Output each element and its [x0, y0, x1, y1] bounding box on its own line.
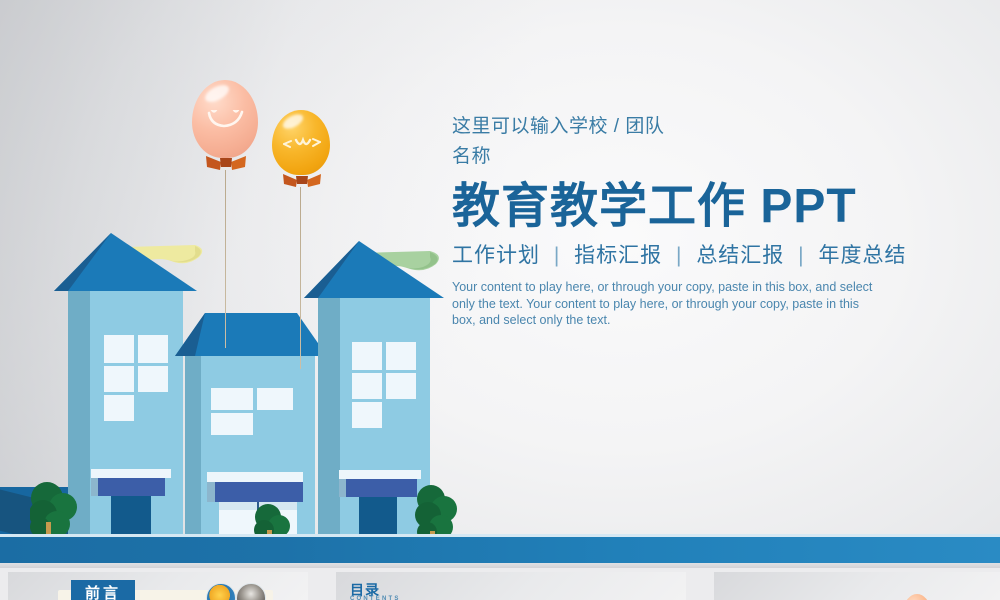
thumb2-contents-subtitle: CONTENTS: [350, 596, 401, 600]
orange-balloon-cat-face-icon: [283, 134, 321, 154]
center-canopy-band: [214, 482, 303, 502]
slide-thumb-cover[interactable]: [714, 572, 1000, 600]
tower-left-window-c: [104, 366, 134, 392]
subtitle-item-0: 工作计划: [452, 244, 540, 267]
center-roof: [175, 313, 327, 357]
center-canopy-shadow: [207, 482, 215, 502]
portrait-photo-circle: [236, 583, 266, 600]
center-window-a: [211, 388, 253, 410]
tower-right-window-d: [386, 373, 416, 399]
subtitle-item-1: 指标汇报: [574, 244, 662, 267]
tower-left-canopy-band: [97, 478, 165, 496]
tower-right-roof: [304, 241, 444, 299]
pink-balloon-smiley-face-icon: [206, 110, 246, 134]
tower-right-canopy-top: [339, 470, 421, 479]
tower-right-window-b: [386, 342, 416, 370]
bottom-blue-ribbon: [0, 537, 1000, 563]
orange-balloon-string: [300, 187, 301, 369]
tower-right-canopy-band: [345, 479, 417, 497]
tower-left-window-d: [138, 366, 168, 392]
cover-text-block: 这里可以输入学校 / 团队名称 教育教学工作 PPT 工作计划 | 指标汇报 |…: [452, 112, 987, 329]
subtitle-separator-2: |: [791, 244, 811, 267]
subtitle-separator-1: |: [669, 244, 689, 267]
flowers-photo-circle: [206, 583, 236, 600]
tower-right-window-e: [352, 402, 382, 428]
subtitle-separator-0: |: [547, 244, 567, 267]
tower-left-canopy-shadow: [91, 478, 98, 496]
pink-balloon-string: [225, 170, 226, 348]
orange-balloon-bow-icon: [283, 172, 321, 189]
subtitle-item-3: 年度总结: [818, 244, 906, 267]
building-tower-left: [68, 291, 183, 568]
tower-left-window-e: [104, 395, 134, 421]
body-placeholder-text[interactable]: Your content to play here, or through yo…: [452, 279, 877, 329]
tower-left-window-a: [104, 335, 134, 363]
school-name-placeholder[interactable]: 这里可以输入学校 / 团队名称: [452, 112, 677, 172]
center-canopy-top: [207, 472, 303, 482]
tower-left-roof: [54, 233, 197, 293]
tower-left-window-b: [138, 335, 168, 363]
slide-thumbnail-strip: 前言 目录 CONTENTS: [0, 568, 1000, 600]
center-window-c: [211, 413, 253, 435]
pink-balloon-bow-icon: [206, 154, 246, 172]
tower-right-window-c: [352, 373, 382, 399]
slide-thumb-preface[interactable]: 前言: [8, 572, 308, 600]
thumb1-preface-badge: 前言: [71, 580, 135, 600]
tower-left-canopy-top: [91, 469, 171, 478]
tower-right-canopy-shadow: [339, 479, 346, 497]
subtitle-item-2: 总结汇报: [696, 244, 784, 267]
page-title[interactable]: 教育教学工作 PPT: [452, 180, 987, 234]
slide-thumb-contents[interactable]: 目录 CONTENTS: [336, 572, 686, 600]
tree-left-canopy-icon: [30, 482, 82, 540]
tower-right-window-a: [352, 342, 382, 370]
tower-right-shadow-side: [318, 298, 340, 568]
slide-canvas: 这里可以输入学校 / 团队名称 教育教学工作 PPT 工作计划 | 指标汇报 |…: [0, 0, 1000, 568]
thumb3-balloon-shape: [904, 594, 930, 600]
subtitle-row[interactable]: 工作计划 | 指标汇报 | 总结汇报 | 年度总结: [452, 242, 987, 270]
center-window-b: [257, 388, 293, 410]
